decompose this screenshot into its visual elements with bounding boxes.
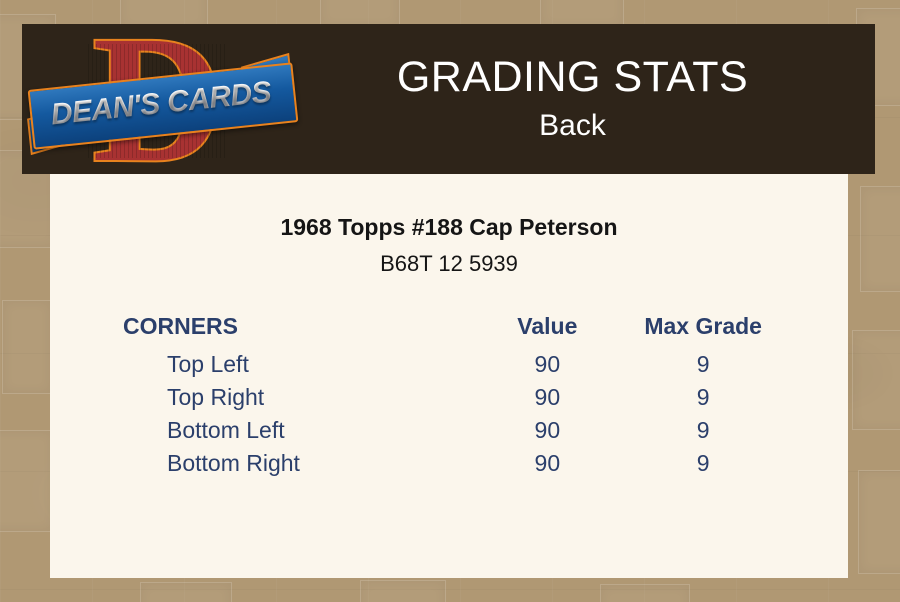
- row-label: Top Left: [113, 348, 473, 381]
- background-card: [852, 330, 900, 430]
- content-panel: 1968 Topps #188 Cap Peterson B68T 12 593…: [50, 174, 848, 578]
- grading-stats-table: CORNERS Value Max Grade Top Left 90 9 To…: [113, 313, 785, 480]
- header-title-group: GRADING STATS Back: [300, 52, 875, 146]
- background-card: [2, 300, 52, 394]
- row-label: Bottom Right: [113, 447, 473, 480]
- row-max-grade: 9: [621, 414, 785, 447]
- background-card: [140, 582, 232, 602]
- column-header-value: Value: [473, 313, 621, 348]
- table-row: Top Right 90 9: [113, 381, 785, 414]
- row-max-grade: 9: [621, 381, 785, 414]
- column-header-corners: CORNERS: [113, 313, 473, 348]
- background-card: [858, 470, 900, 574]
- table-header-row: CORNERS Value Max Grade: [113, 313, 785, 348]
- row-max-grade: 9: [621, 348, 785, 381]
- row-value: 90: [473, 447, 621, 480]
- deans-cards-logo[interactable]: D DEAN'S CARDS: [22, 24, 300, 174]
- row-value: 90: [473, 348, 621, 381]
- page-title: GRADING STATS: [300, 52, 845, 102]
- table-row: Bottom Left 90 9: [113, 414, 785, 447]
- background-card: [0, 430, 54, 532]
- row-label: Bottom Left: [113, 414, 473, 447]
- row-label: Top Right: [113, 381, 473, 414]
- page-subtitle: Back: [300, 106, 845, 146]
- row-value: 90: [473, 414, 621, 447]
- table-row: Top Left 90 9: [113, 348, 785, 381]
- page-header: D DEAN'S CARDS GRADING STATS Back: [22, 24, 875, 174]
- grading-stats-page: D DEAN'S CARDS GRADING STATS Back 1968 T…: [0, 0, 900, 602]
- row-max-grade: 9: [621, 447, 785, 480]
- background-card: [600, 584, 690, 602]
- row-value: 90: [473, 381, 621, 414]
- background-card: [860, 186, 900, 292]
- card-code: B68T 12 5939: [50, 251, 848, 277]
- table-row: Bottom Right 90 9: [113, 447, 785, 480]
- background-card: [360, 580, 446, 602]
- card-title: 1968 Topps #188 Cap Peterson: [50, 214, 848, 241]
- column-header-max-grade: Max Grade: [621, 313, 785, 348]
